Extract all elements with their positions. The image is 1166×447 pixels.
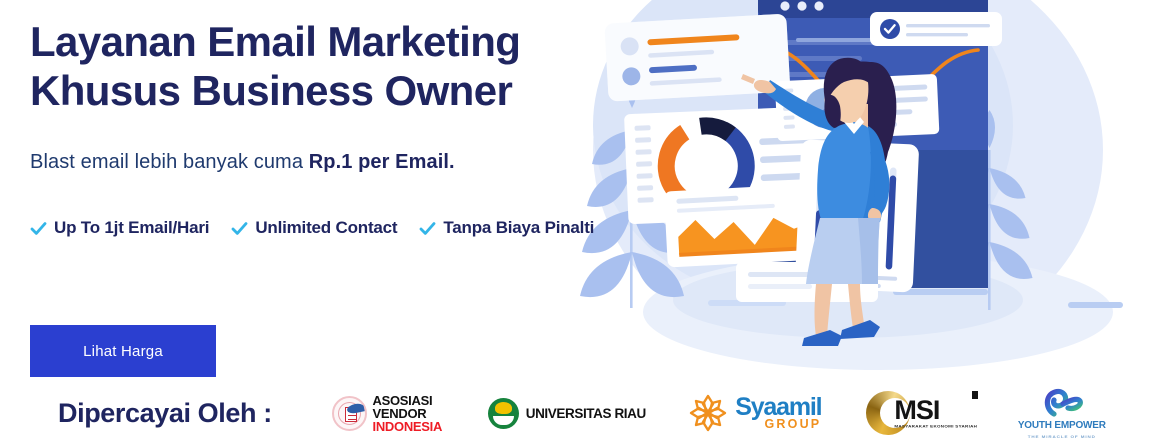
headline-line-2: Khusus Business Owner: [30, 67, 650, 116]
ribbon-swirl-icon: [1041, 387, 1083, 417]
partner-logo-syaamil-group: Syaamil GROUP: [662, 384, 847, 442]
feature-item-1: Unlimited Contact: [231, 218, 397, 238]
subhead-normal-text: Blast email lebih banyak cuma: [30, 151, 309, 173]
check-icon: [419, 220, 436, 237]
avi-line-3: INDONESIA: [373, 420, 443, 433]
check-icon: [231, 220, 248, 237]
youth-empower-tagline: THE MIRACLE OF MIND: [1028, 434, 1096, 439]
subhead-price-text: Rp.1 per Email.: [309, 151, 455, 173]
partner-logo-msi: MSI MASYARAKAT EKONOMI SYARIAH: [847, 384, 997, 442]
university-crest-icon: [488, 398, 519, 429]
trusted-by-strip: Dipercayai Oleh : ASOSIASI VENDOR INDONE…: [0, 379, 1166, 447]
feature-item-0: Up To 1jt Email/Hari: [30, 218, 209, 238]
check-icon: [30, 220, 47, 237]
msi-subtitle: MASYARAKAT EKONOMI SYARIAH: [894, 425, 977, 429]
msi-wordmark: MSI: [894, 395, 939, 425]
hero-copy-block: Layanan Email Marketing Khusus Business …: [30, 18, 650, 238]
feature-label-0: Up To 1jt Email/Hari: [54, 218, 209, 238]
msi-flag-icon: [972, 391, 978, 399]
cart-document-seal-icon: [332, 396, 367, 431]
hero-banner: Layanan Email Marketing Khusus Business …: [0, 0, 1166, 447]
page-title: Layanan Email Marketing Khusus Business …: [30, 18, 650, 115]
partner-logo-universitas-riau: UNIVERSITAS RIAU: [472, 384, 662, 442]
trusted-by-label: Dipercayai Oleh :: [58, 398, 272, 429]
partner-logo-asosiasi-vendor-indonesia: ASOSIASI VENDOR INDONESIA: [302, 384, 472, 442]
avi-line-1: ASOSIASI: [373, 394, 443, 407]
headline-line-1: Layanan Email Marketing: [30, 18, 650, 67]
avi-line-2: VENDOR: [373, 407, 443, 420]
youth-empower-wordmark: YOUTH EMPOWER: [1018, 420, 1106, 431]
eight-point-star-icon: [687, 392, 729, 434]
feature-label-2: Tanpa Biaya Pinalti: [443, 218, 594, 238]
feature-item-2: Tanpa Biaya Pinalti: [419, 218, 594, 238]
lihat-harga-button[interactable]: Lihat Harga: [30, 325, 216, 377]
unri-label: UNIVERSITAS RIAU: [526, 406, 646, 421]
partner-logo-youth-empower: YOUTH EMPOWER THE MIRACLE OF MIND: [997, 384, 1127, 442]
feature-label-1: Unlimited Contact: [255, 218, 397, 238]
partner-logo-rail: ASOSIASI VENDOR INDONESIA UNIVERSITAS RI…: [302, 384, 1166, 442]
hero-subheadline: Blast email lebih banyak cuma Rp.1 per E…: [30, 151, 650, 174]
feature-list: Up To 1jt Email/Hari Unlimited Contact T…: [30, 218, 650, 238]
